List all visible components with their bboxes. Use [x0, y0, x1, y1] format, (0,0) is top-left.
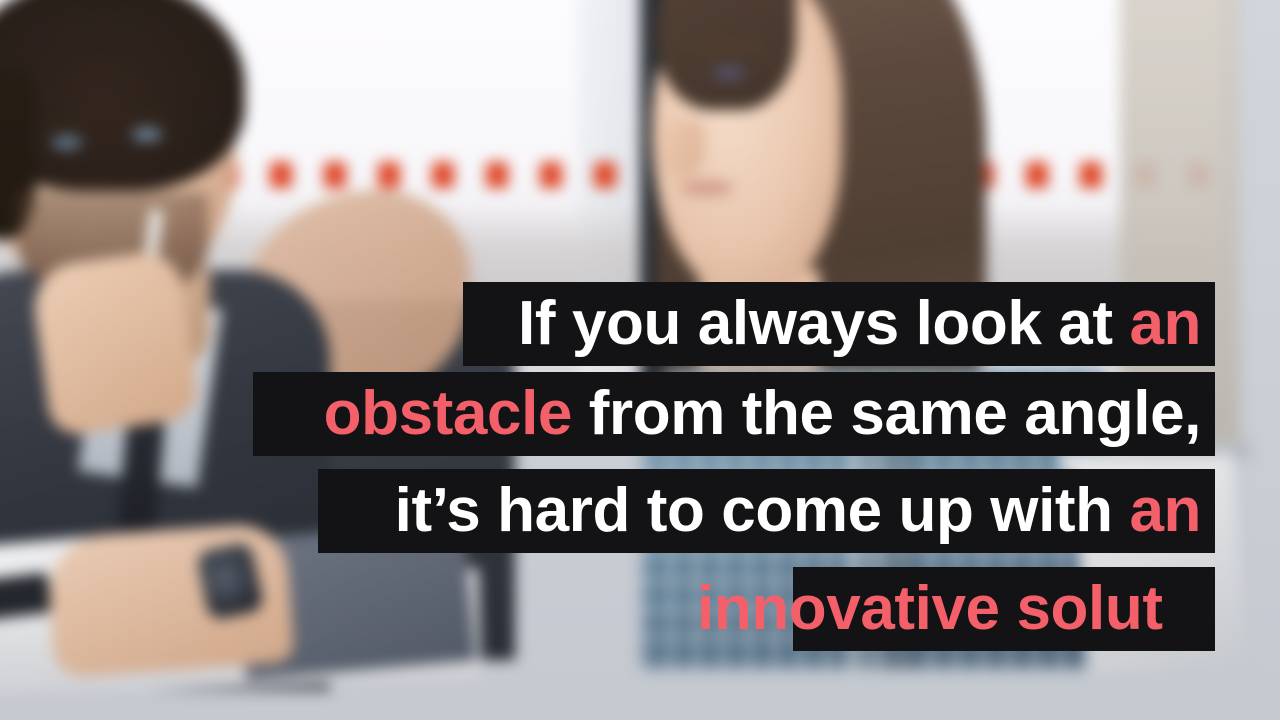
caption-line-2: obstacle from the same angle,: [253, 372, 1215, 456]
caption-line-2-highlight: obstacle: [324, 379, 572, 448]
barrier-dash: [324, 162, 346, 188]
caption-line-4-highlight: innovative solut: [697, 574, 1163, 643]
woman-eye: [712, 66, 746, 80]
man-hair: [0, 0, 245, 191]
barrier-dash: [594, 162, 616, 188]
caption-line-3: it’s hard to come up with an: [318, 469, 1215, 553]
barrier-dash: [1080, 162, 1102, 188]
caption-line-4: innovative solut: [793, 567, 1215, 651]
barrier-dash: [270, 162, 292, 188]
caption-line-3-plain: it’s hard to come up with: [395, 476, 1130, 545]
video-frame: If you always look at an obstacle from t…: [0, 0, 1280, 720]
woman-lips: [680, 180, 734, 196]
barrier-dash: [540, 162, 562, 188]
barrier-dash: [432, 162, 454, 188]
caption-line-1: If you always look at an: [463, 282, 1215, 366]
caption-line-1-highlight: an: [1129, 289, 1201, 358]
caption-line-1-plain: If you always look at: [518, 289, 1129, 358]
man-eye-left: [52, 136, 82, 149]
caption-line-2-plain: from the same angle,: [572, 379, 1201, 448]
barrier-dash: [486, 162, 508, 188]
woman-hair-fringe: [656, 0, 796, 110]
man-hand: [29, 248, 201, 437]
caption-line-3-highlight: an: [1129, 476, 1201, 545]
man-eye-right: [132, 128, 162, 141]
barrier-dash: [1026, 162, 1048, 188]
barrier-dash: [378, 162, 400, 188]
